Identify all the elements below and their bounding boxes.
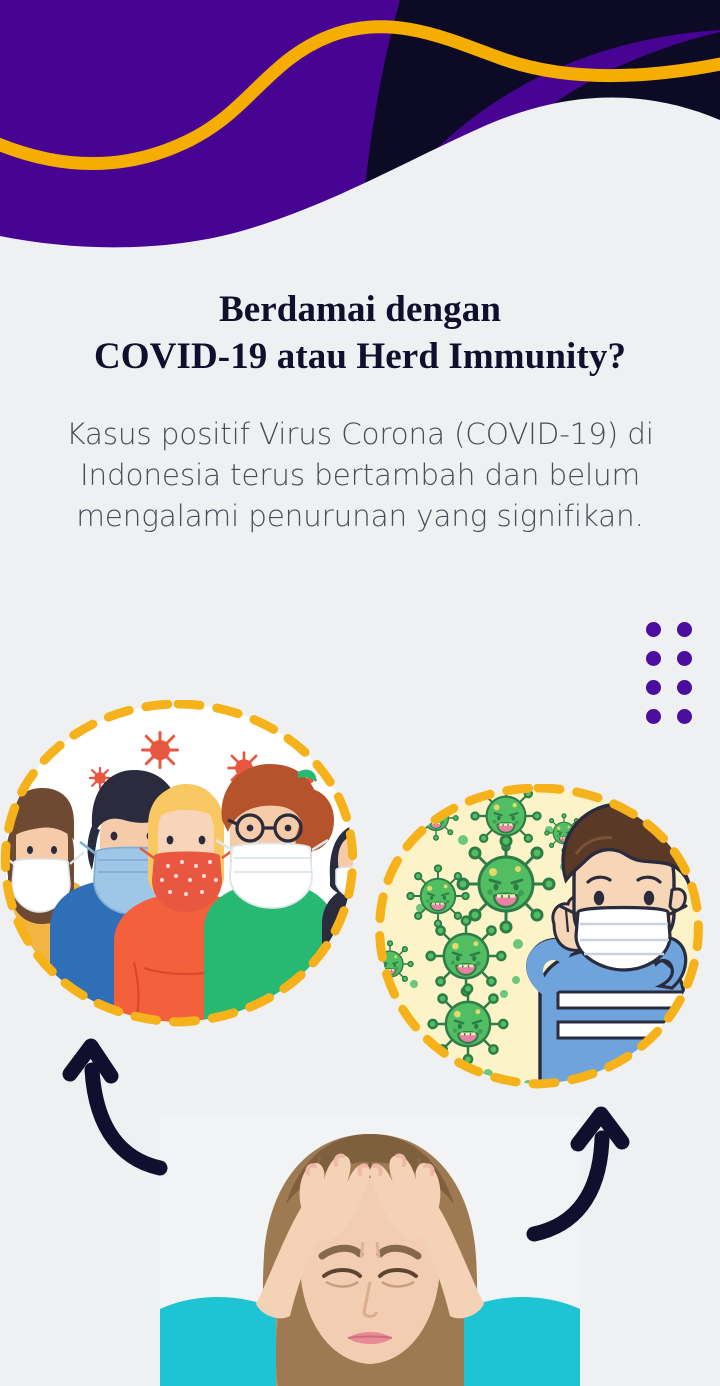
page-title: Berdamai dengan COVID-19 atau Herd Immun… (0, 286, 720, 380)
lead-paragraph: Kasus positif Virus Corona (COVID-19) di… (50, 414, 670, 537)
grid-dot (646, 709, 661, 724)
grid-dot (677, 709, 692, 724)
virus-icon (143, 733, 178, 768)
grid-dot (677, 651, 692, 666)
wave-svg (0, 0, 720, 250)
grid-dot (646, 651, 661, 666)
virus-character (458, 836, 554, 932)
crowd-with-masks-illustration (0, 700, 364, 1040)
arrow-right-svg (520, 1098, 638, 1248)
boy-with-mask-and-viruses-illustration (368, 784, 708, 1096)
lead-paragraph-container: Kasus positif Virus Corona (COVID-19) di… (50, 414, 670, 537)
virus-character (427, 917, 506, 996)
grid-dot (677, 622, 692, 637)
curved-arrow-up-right (520, 1098, 638, 1248)
arrow-left-svg (62, 1028, 180, 1180)
grid-dot (677, 680, 692, 695)
grid-dot (646, 622, 661, 637)
person-woman-glasses (204, 764, 336, 1032)
virus-character (407, 865, 468, 926)
left-bubble-svg (0, 700, 364, 1040)
decorative-wave-banner (0, 0, 720, 250)
title-line-2: COVID-19 atau Herd Immunity? (0, 333, 720, 380)
purple-dot-grid (646, 622, 708, 738)
stressed-woman-photo (160, 1116, 580, 1386)
curved-arrow-up-left (62, 1028, 180, 1180)
grid-dot (646, 680, 661, 695)
infographic-poster: Berdamai dengan COVID-19 atau Herd Immun… (0, 0, 720, 1386)
title-line-1: Berdamai dengan (0, 286, 720, 333)
right-bubble-svg (368, 784, 708, 1096)
photo-svg (160, 1116, 580, 1386)
